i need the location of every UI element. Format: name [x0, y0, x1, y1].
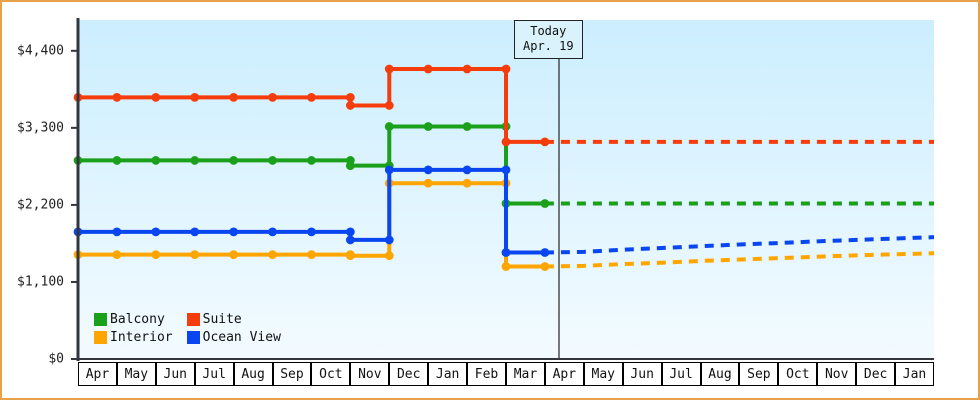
y-axis-tick-label: $0	[48, 352, 64, 367]
x-axis-tick-label: Apr	[78, 362, 117, 386]
x-axis-tick-label: Apr	[545, 362, 584, 386]
x-axis-tick-label: May	[117, 362, 156, 386]
y-axis-tick-label: $2,200	[17, 197, 64, 212]
x-axis-tick-label: Mar	[506, 362, 545, 386]
data-point-marker[interactable]	[541, 137, 550, 146]
data-point-marker[interactable]	[346, 227, 355, 236]
data-point-marker[interactable]	[385, 165, 394, 174]
data-point-marker[interactable]	[151, 250, 160, 259]
data-point-marker[interactable]	[541, 248, 550, 257]
data-point-marker[interactable]	[424, 179, 433, 188]
x-axis-tick-label: Jun	[156, 362, 195, 386]
x-axis-tick-label: Dec	[856, 362, 895, 386]
data-point-marker[interactable]	[307, 250, 316, 259]
x-axis-tick-label: Feb	[467, 362, 506, 386]
legend-item-label: Suite	[203, 312, 242, 327]
data-point-marker[interactable]	[346, 101, 355, 110]
legend-item-label: Balcony	[110, 312, 165, 327]
x-axis-tick-label: Jan	[428, 362, 467, 386]
legend-color-swatch	[187, 313, 200, 326]
data-point-marker[interactable]	[190, 250, 199, 259]
price-history-chart: $4,400$3,300$2,200$1,100$0 AprMayJunJulA…	[0, 0, 980, 400]
data-point-marker[interactable]	[502, 137, 511, 146]
y-axis-tick-label: $1,100	[17, 274, 64, 289]
data-point-marker[interactable]	[113, 156, 122, 165]
data-point-marker[interactable]	[502, 65, 511, 74]
chart-legend: BalconySuiteInteriorOcean View	[94, 312, 281, 345]
data-point-marker[interactable]	[346, 93, 355, 102]
legend-item[interactable]: Balcony	[94, 312, 173, 327]
data-point-marker[interactable]	[307, 156, 316, 165]
data-point-marker[interactable]	[229, 250, 238, 259]
data-point-marker[interactable]	[463, 122, 472, 131]
data-point-marker[interactable]	[151, 93, 160, 102]
data-point-marker[interactable]	[268, 93, 277, 102]
data-point-marker[interactable]	[385, 122, 394, 131]
data-point-marker[interactable]	[502, 262, 511, 271]
x-axis-tick-label: Jul	[662, 362, 701, 386]
x-axis-tick-label: Dec	[389, 362, 428, 386]
today-marker-line1: Today	[523, 24, 574, 39]
data-point-marker[interactable]	[463, 179, 472, 188]
today-marker-badge: Today Apr. 19	[514, 20, 583, 59]
data-point-marker[interactable]	[502, 248, 511, 257]
data-point-marker[interactable]	[385, 101, 394, 110]
data-point-marker[interactable]	[424, 165, 433, 174]
data-point-marker[interactable]	[424, 122, 433, 131]
legend-color-swatch	[187, 331, 200, 344]
legend-color-swatch	[94, 331, 107, 344]
data-point-marker[interactable]	[190, 93, 199, 102]
legend-item-label: Ocean View	[203, 330, 281, 345]
data-point-marker[interactable]	[151, 156, 160, 165]
data-point-marker[interactable]	[113, 227, 122, 236]
x-axis-tick-label: Sep	[273, 362, 312, 386]
data-point-marker[interactable]	[229, 156, 238, 165]
x-axis-tick-label: Oct	[311, 362, 350, 386]
data-point-marker[interactable]	[151, 227, 160, 236]
x-axis-tick-label: Jan	[895, 362, 934, 386]
x-axis-tick-label: Jul	[195, 362, 234, 386]
data-point-marker[interactable]	[424, 65, 433, 74]
x-axis-tick-label: Nov	[350, 362, 389, 386]
data-point-marker[interactable]	[307, 93, 316, 102]
data-point-marker[interactable]	[463, 165, 472, 174]
data-point-marker[interactable]	[113, 250, 122, 259]
data-point-marker[interactable]	[385, 65, 394, 74]
x-axis-tick-label: Aug	[701, 362, 740, 386]
y-axis-tick-label: $4,400	[17, 43, 64, 58]
data-point-marker[interactable]	[268, 250, 277, 259]
legend-color-swatch	[94, 313, 107, 326]
y-axis-tick-label: $3,300	[17, 120, 64, 135]
data-point-marker[interactable]	[190, 156, 199, 165]
data-point-marker[interactable]	[268, 227, 277, 236]
data-point-marker[interactable]	[346, 236, 355, 245]
data-point-marker[interactable]	[385, 251, 394, 260]
data-point-marker[interactable]	[463, 65, 472, 74]
data-point-marker[interactable]	[229, 227, 238, 236]
legend-item[interactable]: Ocean View	[187, 330, 281, 345]
x-axis-tick-label: Nov	[817, 362, 856, 386]
data-point-marker[interactable]	[502, 165, 511, 174]
data-point-marker[interactable]	[229, 93, 238, 102]
data-point-marker[interactable]	[541, 199, 550, 208]
today-marker-line2: Apr. 19	[523, 39, 574, 54]
x-axis-tick-label: Aug	[234, 362, 273, 386]
data-point-marker[interactable]	[385, 236, 394, 245]
x-axis-tick-label: May	[584, 362, 623, 386]
x-axis-tick-label: Jun	[623, 362, 662, 386]
legend-item-label: Interior	[110, 330, 173, 345]
data-point-marker[interactable]	[190, 227, 199, 236]
x-axis-tick-label: Sep	[739, 362, 778, 386]
data-point-marker[interactable]	[307, 227, 316, 236]
legend-item[interactable]: Interior	[94, 330, 173, 345]
data-point-marker[interactable]	[346, 156, 355, 165]
x-axis-tick-label: Oct	[778, 362, 817, 386]
data-point-marker[interactable]	[346, 250, 355, 259]
legend-item[interactable]: Suite	[187, 312, 281, 327]
data-point-marker[interactable]	[541, 262, 550, 271]
data-point-marker[interactable]	[113, 93, 122, 102]
data-point-marker[interactable]	[268, 156, 277, 165]
